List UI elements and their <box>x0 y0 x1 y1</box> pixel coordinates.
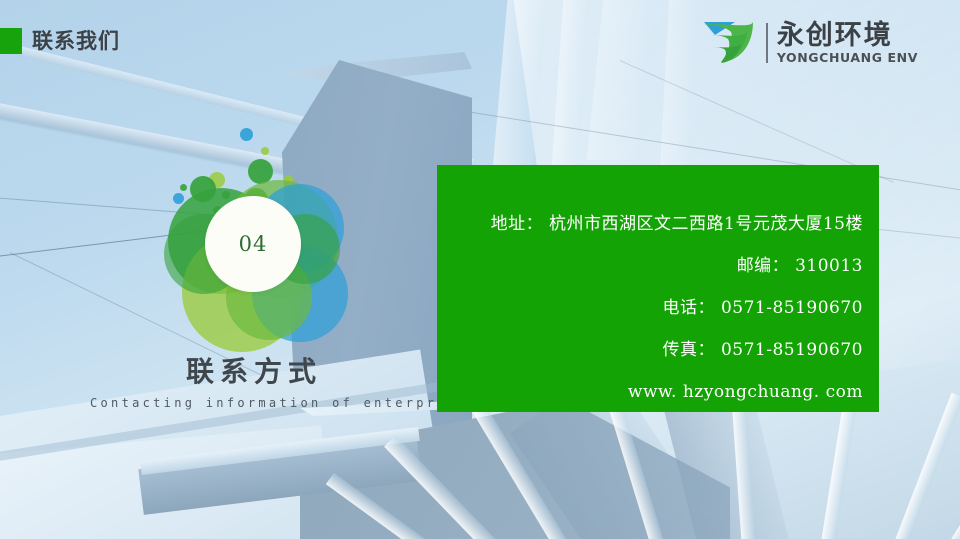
header-accent-square <box>0 28 22 54</box>
contact-website-line[interactable]: www. hzyongchuang. com <box>437 371 863 413</box>
contact-postcode-line: 邮编： 310013 <box>437 245 863 287</box>
company-logo: 永创环境 YONGCHUANG ENV <box>701 18 918 68</box>
section-number-badge: 04 <box>205 196 301 292</box>
logo-name-cn: 永创环境 <box>777 22 918 49</box>
logo-divider <box>766 23 768 63</box>
contact-info-panel: 地址： 杭州市西湖区文二西路1号元茂大厦15楼 邮编： 310013 电话： 0… <box>437 165 879 412</box>
yongchuang-leaf-swoosh-logo-icon <box>701 18 757 68</box>
page-title: 联系我们 <box>32 28 120 54</box>
slide-contact-us: 联系我们 永创环境 YONGCHUANG ENV <box>0 0 960 539</box>
logo-wordmark: 永创环境 YONGCHUANG ENV <box>777 22 918 65</box>
section-number-circle-graphic: 04 <box>160 128 380 358</box>
section-number: 04 <box>239 232 268 256</box>
section-subtitle: Contacting information of enterprise <box>90 396 469 410</box>
bg-fan-beam <box>892 393 960 539</box>
contact-phone-line: 电话： 0571-85190670 <box>437 287 863 329</box>
decorative-circle <box>180 184 187 191</box>
contact-address-line: 地址： 杭州市西湖区文二西路1号元茂大厦15楼 <box>437 203 863 245</box>
decorative-circle <box>240 128 253 141</box>
bg-fan-beam <box>947 419 960 539</box>
logo-name-en: YONGCHUANG ENV <box>777 52 918 65</box>
section-title: 联系方式 <box>186 350 322 390</box>
contact-fax-line: 传真： 0571-85190670 <box>437 329 863 371</box>
decorative-circle <box>261 147 269 155</box>
decorative-circle <box>173 193 184 204</box>
